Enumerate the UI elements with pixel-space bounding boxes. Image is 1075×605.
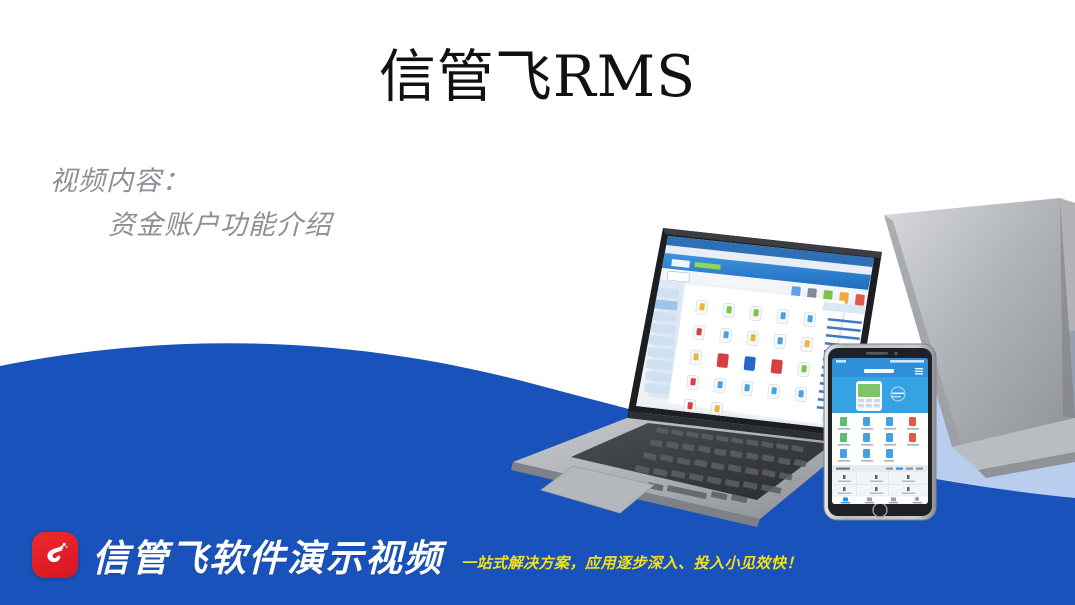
- laptop-toolbar-buttons: [790, 286, 867, 310]
- laptop-front: [511, 228, 882, 527]
- video-content-value: 资金账户功能介绍: [50, 204, 332, 248]
- user-icon: [915, 497, 919, 501]
- laptop-left-nav: [644, 287, 679, 395]
- xinguanfei-bird-logo-icon: [32, 532, 78, 578]
- page-title: 信管飞RMS: [0, 48, 1075, 108]
- app-logo: [671, 259, 721, 270]
- chart-icon: [891, 497, 896, 501]
- home-icon: [843, 497, 848, 501]
- phone-stats: [834, 472, 926, 496]
- slide-canvas: 信管飞RMS 视频内容： 资金账户功能介绍: [0, 0, 1075, 605]
- laptop-keyboard-keys: [627, 427, 807, 503]
- laptop-right-panel-items: [817, 318, 862, 412]
- phone-screen-content: [832, 358, 928, 504]
- laptop-back: [884, 198, 1075, 478]
- phone-tab-bar[interactable]: [841, 497, 922, 504]
- video-content-block: 视频内容： 资金账户功能介绍: [50, 160, 332, 247]
- hamburger-menu-icon[interactable]: [915, 368, 923, 375]
- banner-title: 信管飞软件演示视频: [92, 528, 443, 582]
- banner-tagline: 一站式解决方案，应用逐步深入、投入小见效快！: [461, 552, 802, 573]
- video-content-label: 视频内容：: [50, 166, 190, 197]
- mobile-phone: [824, 344, 936, 520]
- bottom-banner: 信管飞软件演示视频 一站式解决方案，应用逐步深入、投入小见效快！: [0, 505, 1075, 605]
- laptop-screen-content: [638, 236, 874, 437]
- document-icon: [867, 497, 872, 501]
- phone-icon-grid: [838, 417, 919, 462]
- laptop-icon-grid: [684, 300, 816, 417]
